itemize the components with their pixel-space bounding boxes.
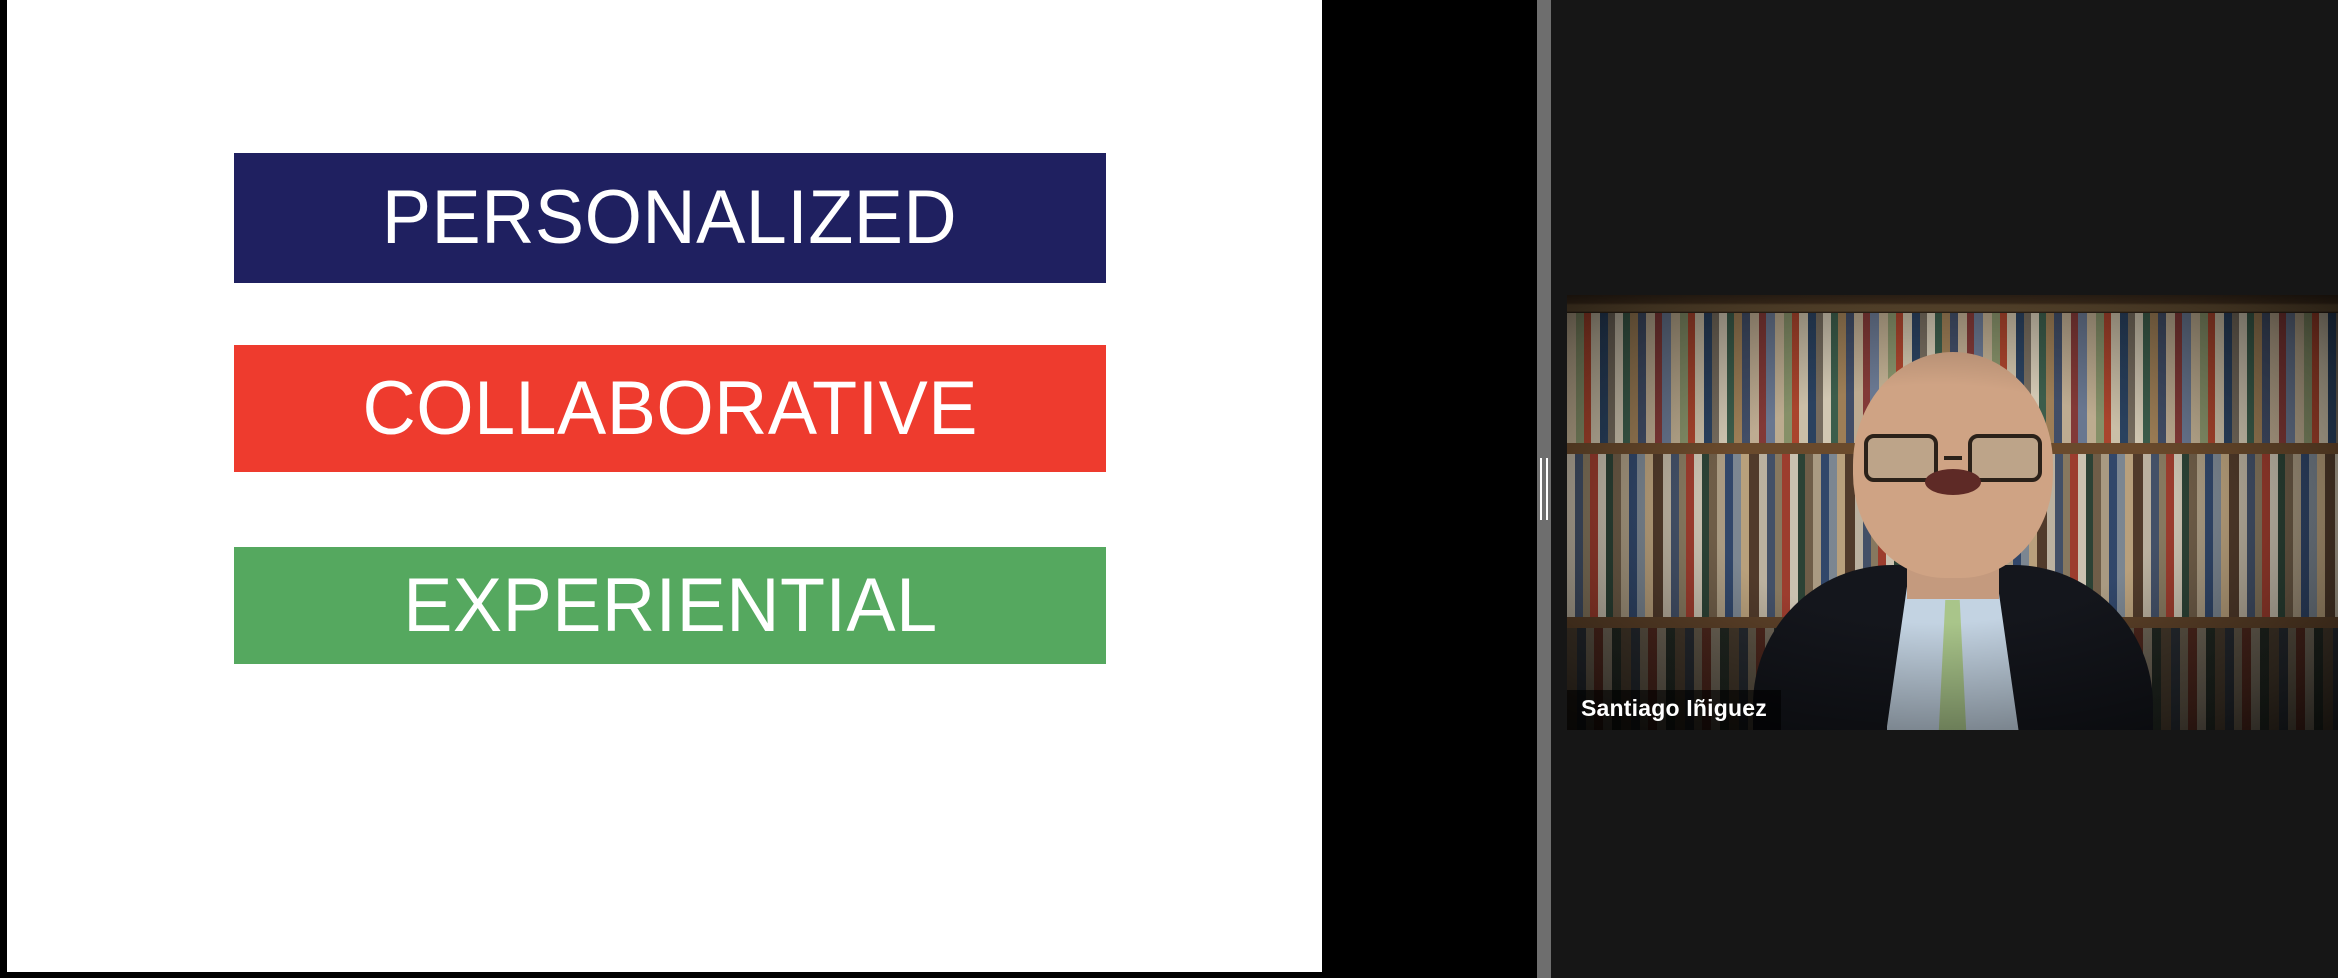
slide-bar-label-experiential: EXPERIENTIAL	[403, 568, 937, 644]
meeting-screen: PERSONALIZED COLLABORATIVE EXPERIENTIAL	[0, 0, 2338, 978]
participant-name-label: Santiago Iñiguez	[1581, 695, 1767, 721]
participant-name-badge: Santiago Iñiguez	[1567, 690, 1781, 730]
slide-bottom-edge	[0, 972, 1537, 978]
slide-left-edge	[0, 0, 7, 978]
video-vignette	[1567, 295, 2338, 730]
slide-bar-label-personalized: PERSONALIZED	[382, 180, 957, 256]
grip-line	[1546, 458, 1548, 520]
participant-video-panel[interactable]: Santiago Iñiguez	[1551, 0, 2338, 978]
grip-line	[1540, 458, 1542, 520]
resize-grip-icon[interactable]	[1540, 458, 1548, 520]
slide-bar-collaborative: COLLABORATIVE	[234, 345, 1106, 472]
participant-video-tile[interactable]: Santiago Iñiguez	[1567, 295, 2338, 730]
slide-bar-label-collaborative: COLLABORATIVE	[362, 371, 977, 447]
slide-bar-personalized: PERSONALIZED	[234, 153, 1106, 283]
shared-screen-region[interactable]: PERSONALIZED COLLABORATIVE EXPERIENTIAL	[0, 0, 1537, 978]
slide-bar-experiential: EXPERIENTIAL	[234, 547, 1106, 664]
panel-resize-handle[interactable]	[1537, 0, 1551, 978]
presentation-slide[interactable]: PERSONALIZED COLLABORATIVE EXPERIENTIAL	[7, 0, 1322, 972]
